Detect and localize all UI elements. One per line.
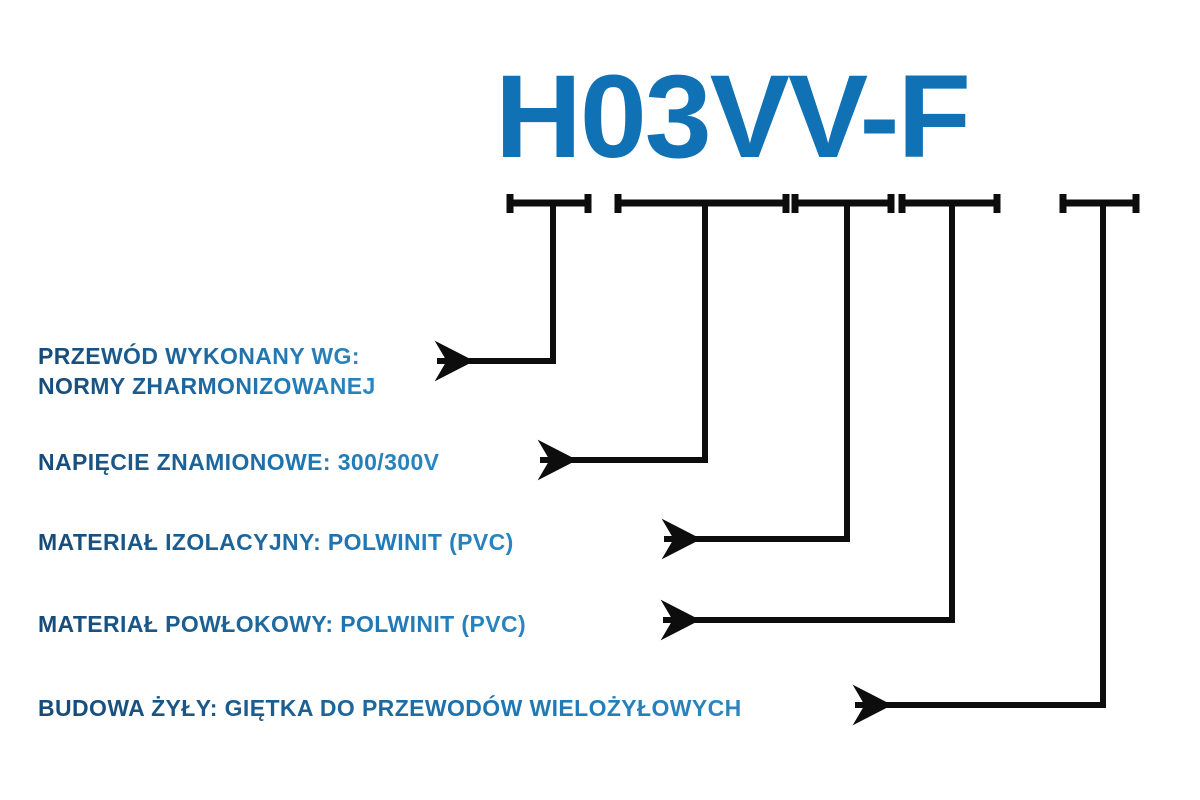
segment-label-1: PRZEWÓD WYKONANY WG: NORMY ZHARMONIZOWAN…: [38, 341, 376, 401]
segment-label-1-line-2: NORMY ZHARMONIZOWANEJ: [38, 371, 376, 401]
leader-line-2: [540, 203, 705, 460]
segment-label-4-line-1: MATERIAŁ POWŁOKOWY: POLWINIT (PVC): [38, 609, 526, 639]
segment-label-4: MATERIAŁ POWŁOKOWY: POLWINIT (PVC): [38, 609, 526, 639]
bracket-segment-1: [437, 194, 589, 361]
page-title: H03VV-F: [495, 52, 1168, 182]
leader-line-1: [437, 203, 553, 361]
cable-code-diagram: H03VV-F: [0, 0, 1200, 800]
leader-line-4: [663, 203, 952, 620]
segment-label-5: BUDOWA ŻYŁY: GIĘTKA DO PRZEWODÓW WIELOŻY…: [38, 693, 742, 723]
bracket-segment-4: [663, 194, 998, 620]
bracket-segment-3: [664, 194, 892, 539]
segment-label-2: NAPIĘCIE ZNAMIONOWE: 300/300V: [38, 447, 439, 477]
segment-label-2-line-1: NAPIĘCIE ZNAMIONOWE: 300/300V: [38, 447, 439, 477]
bracket-segment-5: [855, 194, 1137, 705]
segment-label-3-line-1: MATERIAŁ IZOLACYJNY: POLWINIT (PVC): [38, 527, 514, 557]
leader-line-5: [855, 203, 1103, 705]
leader-line-3: [664, 203, 847, 539]
segment-label-1-line-1: PRZEWÓD WYKONANY WG:: [38, 341, 376, 371]
bracket-segment-2: [540, 194, 787, 460]
segment-label-3: MATERIAŁ IZOLACYJNY: POLWINIT (PVC): [38, 527, 514, 557]
segment-label-5-line-1: BUDOWA ŻYŁY: GIĘTKA DO PRZEWODÓW WIELOŻY…: [38, 693, 742, 723]
